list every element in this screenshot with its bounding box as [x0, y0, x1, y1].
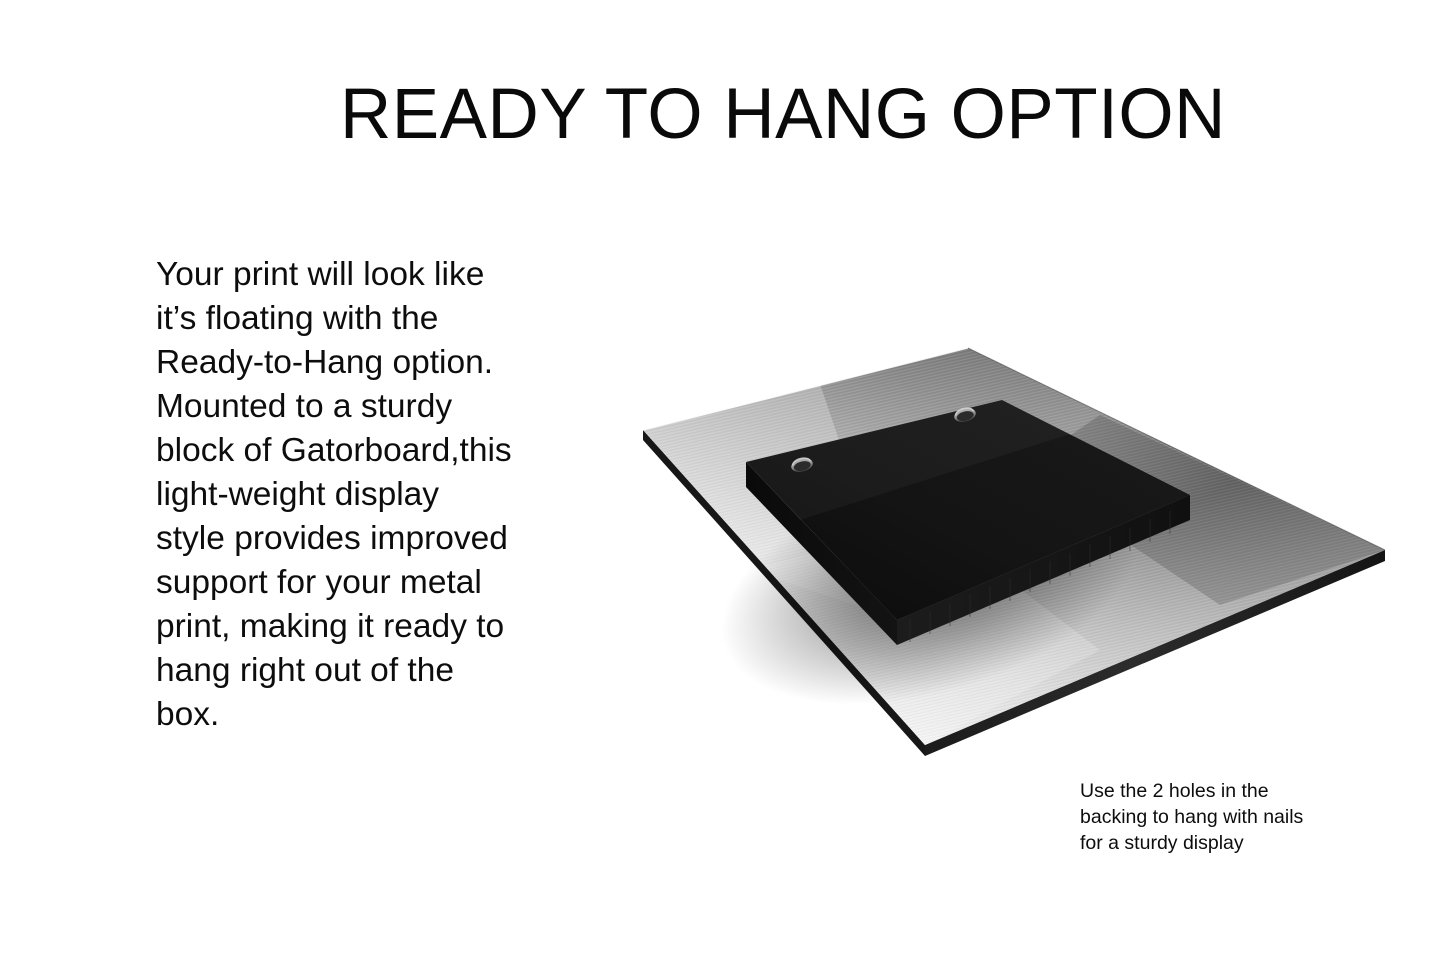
body-line: print, making it ready to — [156, 605, 556, 649]
body-line: Mounted to a sturdy — [156, 385, 556, 429]
metal-print-with-gatorboard-graphic — [600, 320, 1420, 780]
product-illustration — [600, 320, 1420, 780]
body-line: Ready-to-Hang option. — [156, 341, 556, 385]
caption-line: backing to hang with nails — [1080, 804, 1380, 830]
body-line: style provides improved — [156, 517, 556, 561]
caption-line: Use the 2 holes in the — [1080, 778, 1380, 804]
body-line: light-weight display — [156, 473, 556, 517]
body-paragraph: Your print will look like it’s floating … — [156, 253, 556, 737]
caption-line: for a sturdy display — [1080, 830, 1380, 856]
page-title: READY TO HANG OPTION — [340, 79, 1120, 151]
body-line: block of Gatorboard,this — [156, 429, 556, 473]
body-line: Your print will look like — [156, 253, 556, 297]
body-line: support for your metal — [156, 561, 556, 605]
body-line: box. — [156, 693, 556, 737]
hanging-instructions-caption: Use the 2 holes in the backing to hang w… — [1080, 778, 1380, 856]
body-line: hang right out of the — [156, 649, 556, 693]
slide-canvas: READY TO HANG OPTION Your print will loo… — [0, 0, 1445, 963]
body-line: it’s floating with the — [156, 297, 556, 341]
